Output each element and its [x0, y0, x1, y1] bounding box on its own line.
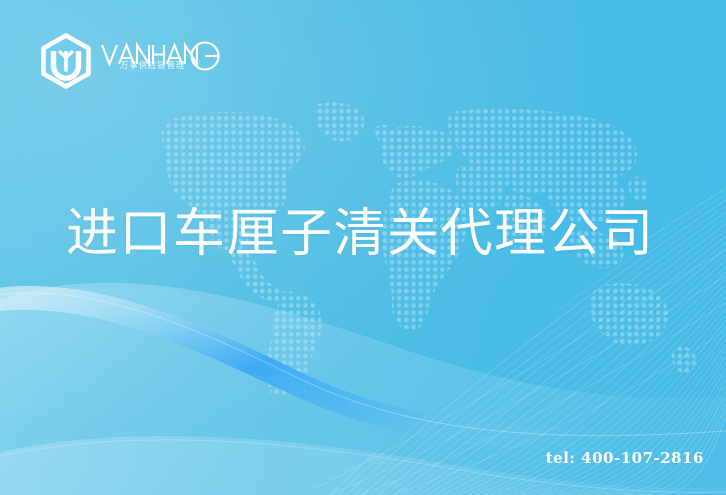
brand-subtitle: 万享供应链管理	[120, 62, 185, 71]
brand-logo[interactable]: 万享供应链管理	[38, 30, 222, 92]
page-title: 进口车厘子清关代理公司	[66, 206, 655, 263]
contact-phone[interactable]: tel: 400-107-2816	[546, 449, 704, 467]
brand-wordmark-group: 万享供应链管理	[100, 38, 222, 84]
wave-main	[0, 286, 726, 451]
vanhang-hexagon-logo-icon	[38, 32, 94, 90]
promo-banner: 万享供应链管理 进口车厘子清关代理公司 tel: 400-107-2816	[0, 0, 726, 495]
